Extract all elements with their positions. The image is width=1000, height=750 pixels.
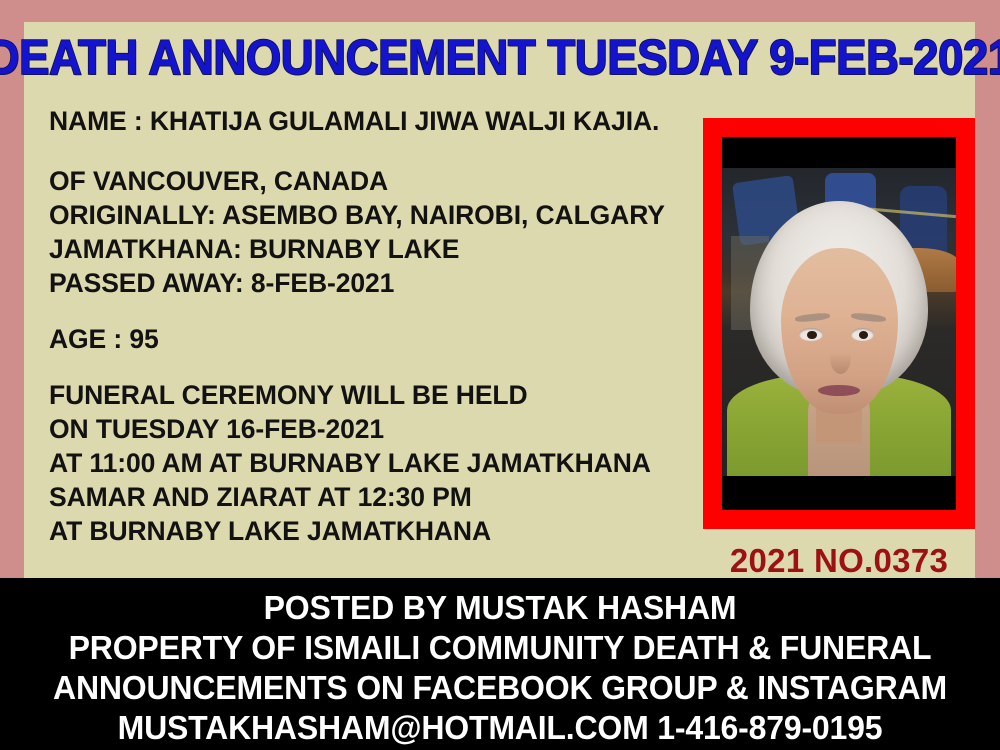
announcement-panel: DEATH ANNOUNCEMENT TUESDAY 9-FEB-2021 NA… <box>24 22 975 578</box>
footer-property-line: PROPERTY OF ISMAILI COMMUNITY DEATH & FU… <box>15 629 985 667</box>
photo-letterbox-top <box>722 137 956 168</box>
footer-contact-line: MUSTAKHASHAM@HOTMAIL.COM 1-416-879-0195 <box>15 709 985 747</box>
photo-letterbox-bottom <box>722 476 956 510</box>
spacer-2 <box>49 300 674 322</box>
spacer-3 <box>49 356 674 378</box>
detail-age: AGE : 95 <box>49 322 674 356</box>
detail-name: NAME : KHATIJA GULAMALI JIWA WALJI KAJIA… <box>49 104 674 138</box>
footer-posted-by: POSTED BY MUSTAK HASHAM <box>15 589 985 627</box>
photo-pupil-right <box>859 331 869 339</box>
funeral-line-4: SAMAR AND ZIARAT AT 12:30 PM <box>49 480 674 514</box>
detail-passed-away: PASSED AWAY: 8-FEB-2021 <box>49 266 674 300</box>
footer-banner: POSTED BY MUSTAK HASHAM PROPERTY OF ISMA… <box>0 578 1000 750</box>
funeral-line-3: AT 11:00 AM AT BURNABY LAKE JAMATKHANA <box>49 446 674 480</box>
portrait-photo-frame <box>703 118 975 529</box>
portrait-photo <box>722 137 956 510</box>
photo-nose <box>830 339 851 373</box>
reference-number: 2021 NO.0373 <box>703 542 975 580</box>
deceased-details-block: NAME : KHATIJA GULAMALI JIWA WALJI KAJIA… <box>49 104 674 548</box>
photo-scene <box>722 167 956 480</box>
title-bar: DEATH ANNOUNCEMENT TUESDAY 9-FEB-2021 <box>24 22 975 94</box>
funeral-line-2: ON TUESDAY 16-FEB-2021 <box>49 412 674 446</box>
detail-residence: OF VANCOUVER, CANADA <box>49 164 674 198</box>
photo-pupil-left <box>807 331 817 339</box>
funeral-line-1: FUNERAL CEREMONY WILL BE HELD <box>49 378 674 412</box>
photo-mouth <box>818 385 860 396</box>
spacer-1 <box>49 138 674 164</box>
funeral-line-5: AT BURNABY LAKE JAMATKHANA <box>49 514 674 548</box>
photo-eye-left <box>799 328 822 341</box>
footer-announcements-line: ANNOUNCEMENTS ON FACEBOOK GROUP & INSTAG… <box>15 669 985 707</box>
detail-jamatkhana: JAMATKHANA: BURNABY LAKE <box>49 232 674 266</box>
detail-originally: ORIGINALLY: ASEMBO BAY, NAIROBI, CALGARY <box>49 198 674 232</box>
death-announcement-poster: DEATH ANNOUNCEMENT TUESDAY 9-FEB-2021 NA… <box>0 0 1000 750</box>
page-title: DEATH ANNOUNCEMENT TUESDAY 9-FEB-2021 <box>0 30 1000 86</box>
